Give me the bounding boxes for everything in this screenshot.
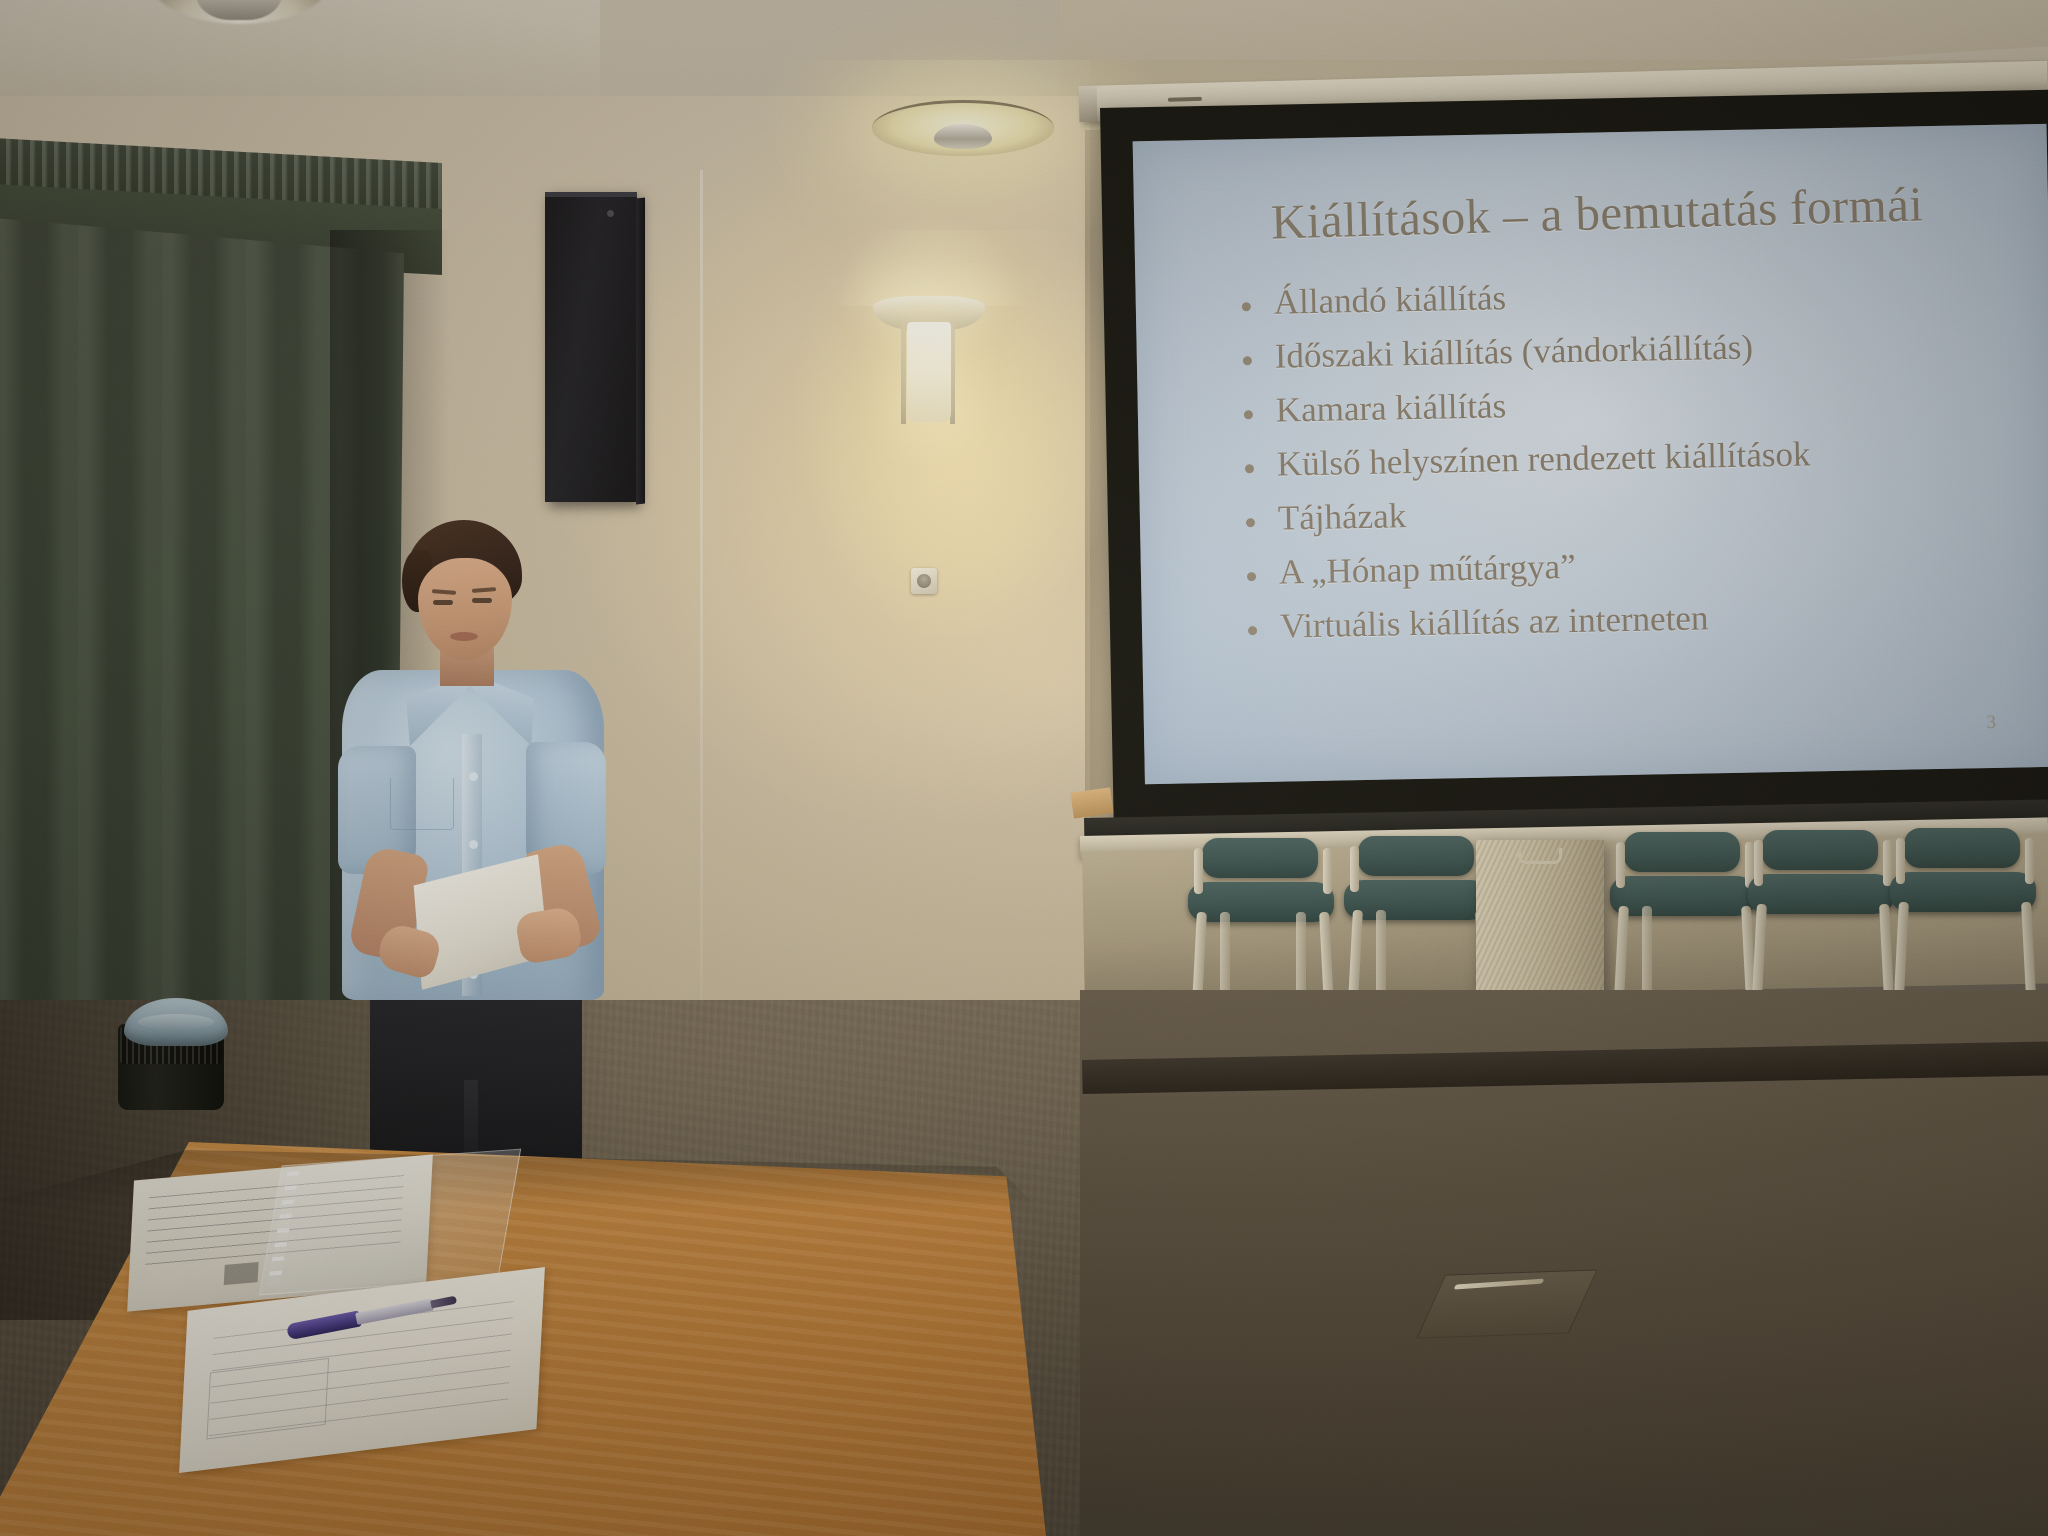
document-stamp-box: [224, 1262, 259, 1285]
chair-backrest: [1202, 838, 1318, 878]
chair-seat: [1748, 874, 1894, 914]
shirt-pocket: [390, 778, 454, 830]
shirt-button: [469, 772, 478, 781]
list-item: Kamara kiállítás: [1235, 372, 2010, 437]
presentation-slide: Kiállítások – a bemutatás formái Állandó…: [1133, 124, 2048, 784]
projection-screen: Kiállítások – a bemutatás formái Állandó…: [1100, 90, 2048, 823]
floor-access-box-icon: [1416, 1269, 1597, 1338]
wastebasket-liner-bag: [124, 998, 228, 1046]
roller-case-end-cap: [1079, 86, 1098, 122]
wastebasket: [118, 1000, 230, 1110]
chair-frame-right: [1323, 848, 1332, 894]
chair-seat: [1610, 876, 1756, 916]
chair-frame-left: [1754, 840, 1763, 886]
list-item: Külső helyszínen rendezett kiállítások: [1236, 426, 2011, 491]
wooden-ledge-end: [1070, 787, 1113, 818]
shirt-button: [469, 840, 478, 849]
power-outlet-icon: [911, 568, 937, 594]
wall-seam: [700, 170, 703, 1030]
column-wall-hook: [1518, 848, 1562, 864]
presenter-face: [418, 558, 512, 660]
chair-backrest: [1358, 836, 1474, 876]
slide-page-number: 3: [1986, 712, 1996, 734]
roller-case-label: [1168, 97, 1202, 102]
slide-bullet-list: Állandó kiállítás Időszaki kiállítás (vá…: [1189, 264, 2014, 654]
wall-speaker-icon: [545, 192, 637, 502]
chair-backrest: [1624, 832, 1740, 872]
chair-frame-left: [1194, 848, 1203, 894]
plastic-sleeve: [259, 1149, 521, 1296]
presenter-mouth: [450, 632, 478, 641]
liner-bag-fold: [138, 1014, 214, 1030]
sconce-bracket-left: [901, 322, 906, 424]
presenter: [322, 520, 662, 1160]
ceiling-downlight-icon: [872, 100, 1054, 156]
chair-frame-left: [1896, 838, 1905, 884]
speaker-top-edge: [545, 192, 637, 197]
speaker-led-dot: [607, 210, 614, 217]
chair-frame-left: [1350, 846, 1359, 892]
list-item: Virtuális kiállítás az interneten: [1240, 588, 2015, 653]
downlight-core: [934, 124, 992, 150]
chair-seat: [1344, 880, 1490, 920]
chair-frame-left: [1616, 842, 1625, 888]
sconce-uplight-wash: [836, 216, 1026, 306]
conference-room-photo: Kiállítások – a bemutatás formái Állandó…: [0, 0, 2048, 1536]
presenter-eye-left: [433, 600, 453, 605]
projection-screen-surface: Kiállítások – a bemutatás formái Állandó…: [1133, 124, 2048, 784]
chair-backrest: [1904, 828, 2020, 868]
chair-seat: [1188, 882, 1334, 922]
list-item: Állandó kiállítás: [1233, 264, 2008, 329]
slide-title: Kiállítások – a bemutatás formái: [1187, 173, 2006, 253]
chair-seat: [1890, 872, 2036, 912]
speaker-side-face: [636, 198, 645, 505]
presenter-eye-right: [472, 598, 492, 603]
chair-frame-right: [2025, 838, 2034, 884]
chair-backrest: [1762, 830, 1878, 870]
list-item: Időszaki kiállítás (vándorkiállítás): [1234, 318, 2009, 383]
list-item: Tájházak: [1237, 480, 2012, 545]
pen-tip: [430, 1296, 457, 1309]
chair-leg: [1642, 906, 1652, 998]
list-item: A „Hónap műtárgya”: [1238, 534, 2013, 599]
sconce-glass-shade: [907, 322, 951, 422]
chair-leg: [1376, 910, 1386, 1002]
